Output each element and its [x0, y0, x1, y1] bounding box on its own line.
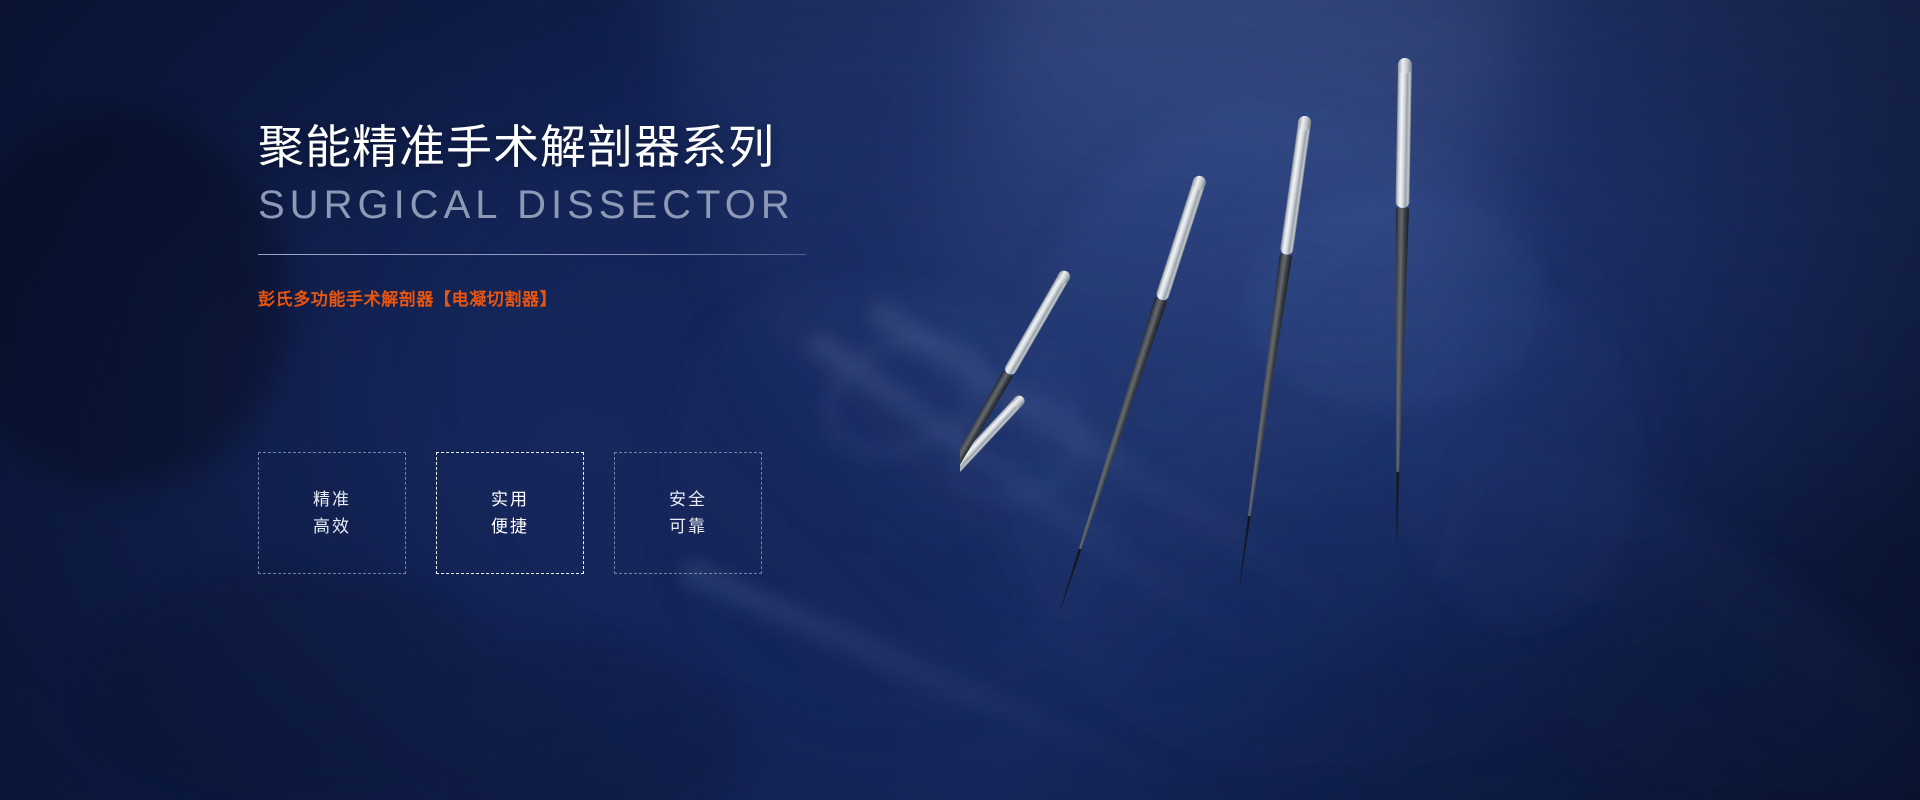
feature-box-safety[interactable]: 安全 可靠	[614, 452, 762, 574]
hero-banner: 聚能精准手术解剖器系列 SURGICAL DISSECTOR 彭氏多功能手术解剖…	[0, 0, 1920, 800]
feature-box-precision-line2: 高效	[313, 518, 351, 535]
page-subtitle-english: SURGICAL DISSECTOR	[258, 180, 958, 230]
feature-box-practical-line2: 便捷	[491, 518, 529, 535]
feature-box-safety-line1: 安全	[669, 491, 707, 508]
feature-box-safety-line2: 可靠	[669, 518, 707, 535]
title-divider	[258, 254, 806, 255]
feature-box-precision-line1: 精准	[313, 491, 351, 508]
banner-copy: 聚能精准手术解剖器系列 SURGICAL DISSECTOR 彭氏多功能手术解剖…	[258, 118, 958, 312]
feature-box-practical[interactable]: 实用 便捷	[436, 452, 584, 574]
product-tagline: 彭氏多功能手术解剖器【电凝切割器】	[258, 288, 958, 312]
feature-box-practical-line1: 实用	[491, 491, 529, 508]
feature-box-precision[interactable]: 精准 高效	[258, 452, 406, 574]
feature-box-group: 精准 高效 实用 便捷 安全 可靠	[258, 452, 762, 574]
page-title: 聚能精准手术解剖器系列	[258, 118, 958, 176]
